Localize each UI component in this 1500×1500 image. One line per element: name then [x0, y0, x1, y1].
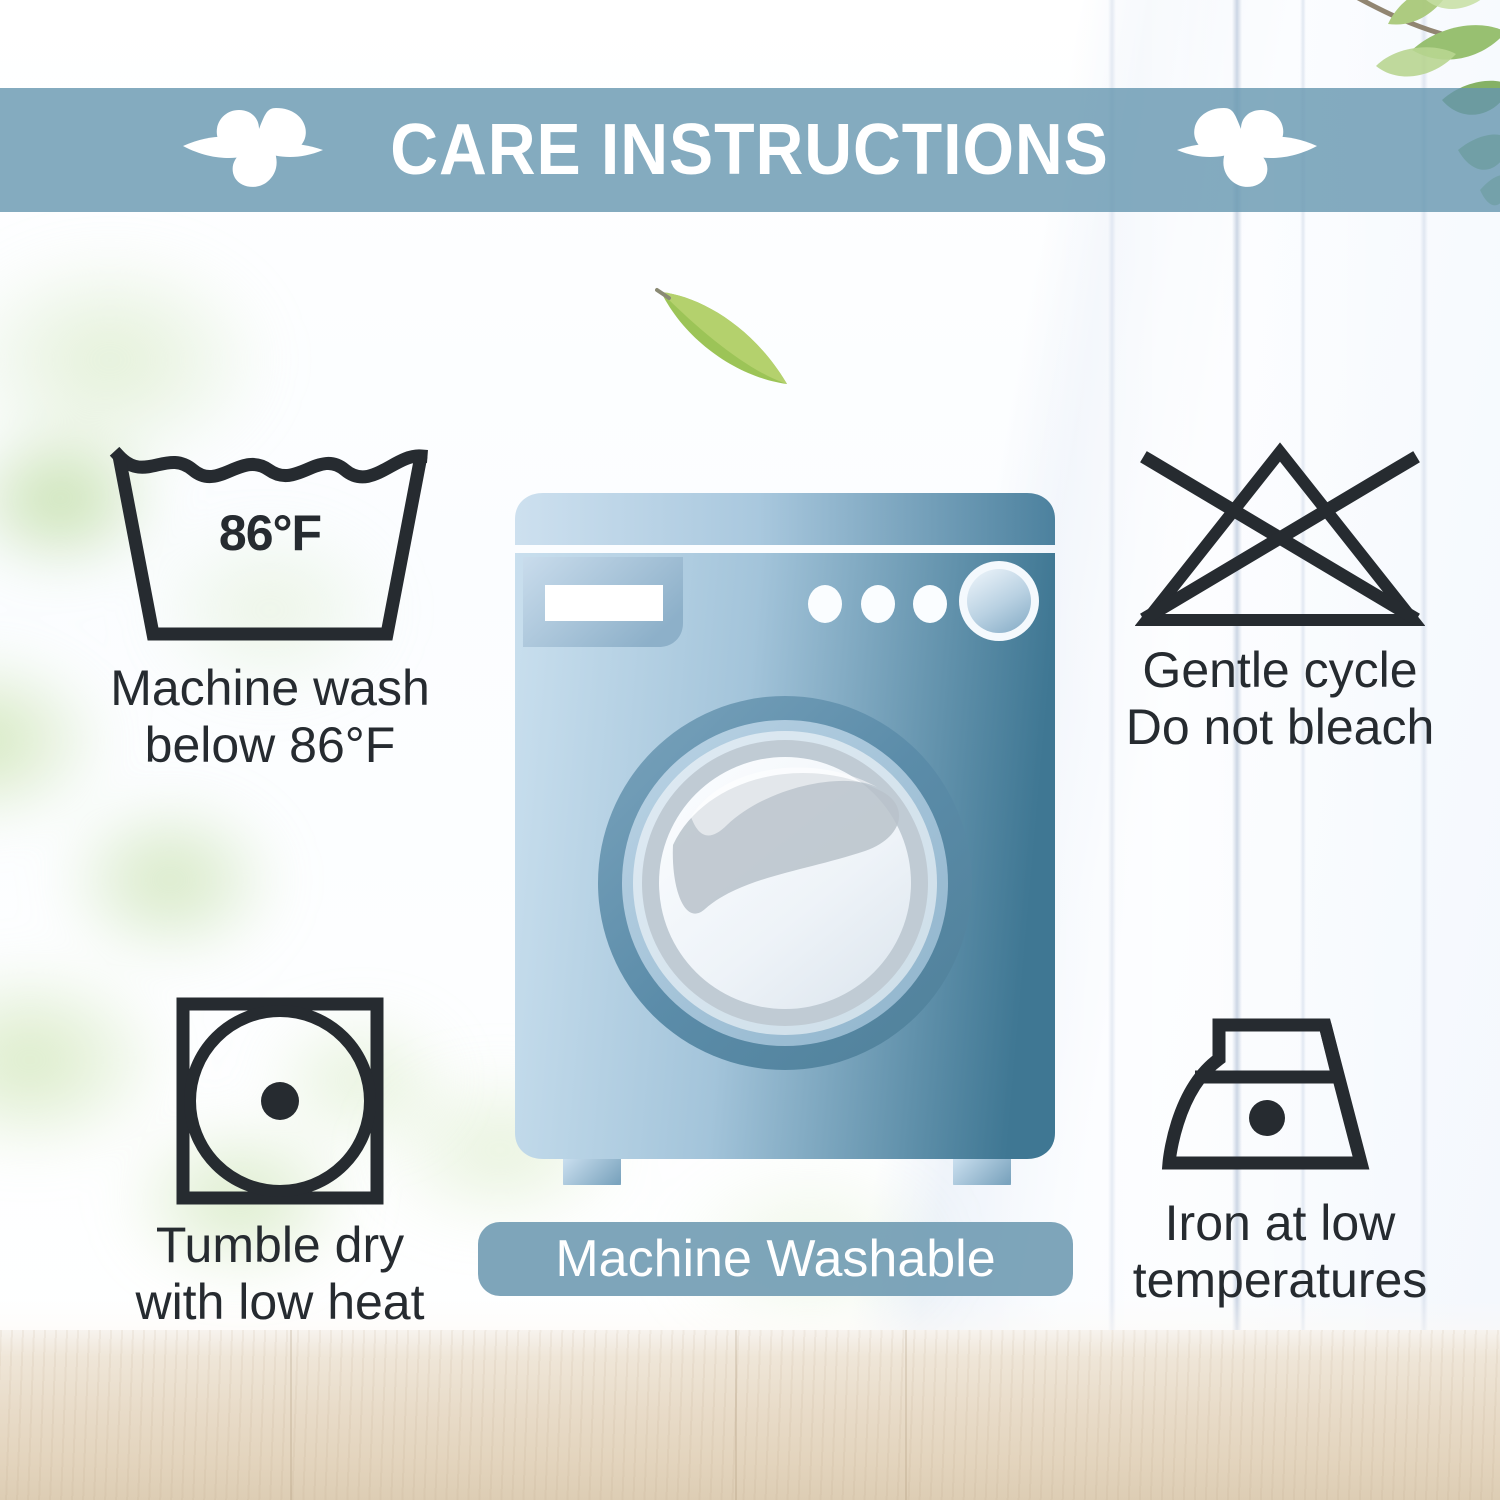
wooden-table-surface — [0, 1330, 1500, 1500]
machine-washable-badge: Machine Washable — [478, 1222, 1073, 1296]
fleur-de-lis-right-icon — [1175, 102, 1325, 198]
header-banner: CARE INSTRUCTIONS — [0, 88, 1500, 212]
care-item-caption: Tumble dry with low heat — [135, 1217, 424, 1331]
iron-icon — [1155, 995, 1405, 1185]
control-knob — [967, 569, 1031, 633]
fleur-de-lis-left-icon — [175, 102, 325, 198]
care-item-tumble-dry-low: Tumble dry with low heat — [80, 995, 480, 1331]
care-instructions-infographic: CARE INSTRUCTIONS 86°F Machine wash belo… — [0, 0, 1500, 1500]
care-item-caption: Iron at low temperatures — [1133, 1195, 1428, 1309]
indicator-light — [808, 585, 842, 623]
do-not-bleach-triangle-icon — [1135, 440, 1425, 632]
washer-foot — [563, 1159, 621, 1185]
wash-tub-symbol: 86°F — [105, 440, 435, 650]
badge-label: Machine Washable — [555, 1233, 995, 1285]
floating-leaf-icon — [655, 278, 805, 398]
detergent-drawer-slot — [545, 585, 663, 621]
care-item-gentle-cycle-no-bleach: Gentle cycle Do not bleach — [1065, 440, 1495, 756]
care-item-caption: Machine wash below 86°F — [110, 660, 430, 774]
tumble-dry-icon — [174, 995, 386, 1207]
indicator-light — [913, 585, 947, 623]
care-item-caption: Gentle cycle Do not bleach — [1126, 642, 1435, 756]
care-item-iron-low: Iron at low temperatures — [1070, 995, 1490, 1309]
washer-top-lid — [515, 493, 1055, 545]
indicator-light — [861, 585, 895, 623]
page-title: CARE INSTRUCTIONS — [391, 114, 1110, 186]
care-item-machine-wash: 86°F Machine wash below 86°F — [55, 440, 485, 774]
washer-foot — [953, 1159, 1011, 1185]
washing-machine-illustration — [505, 485, 1065, 1185]
wash-temperature-label: 86°F — [105, 504, 435, 562]
